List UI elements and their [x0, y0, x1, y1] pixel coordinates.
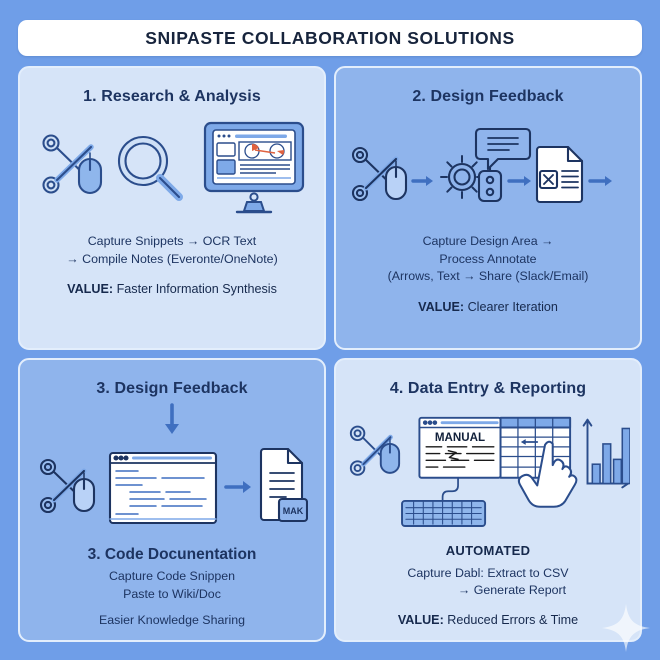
quadrant-title-2: 2. Design Feedback	[412, 88, 563, 106]
quadrant-3-body: Capture Code Snippen Paste to Wiki/Doc	[109, 568, 235, 603]
right-arrow-icon	[226, 481, 251, 493]
quadrant-2-body-line-2: Process Annotate	[388, 251, 589, 269]
scissors-mouse-icon	[353, 148, 406, 200]
code-window-icon	[110, 453, 216, 523]
quadrant-3-body-line-2: Paste to Wiki/Doc	[109, 586, 235, 604]
keyboard-icon	[402, 501, 485, 526]
page-title: SNIPASTE COLLABORATION SOLUTIONS	[145, 28, 515, 49]
right-arrow-icon-1	[413, 176, 433, 186]
quadrant-2-value-label: VALUE:	[418, 300, 464, 314]
quadrant-4-body: Capture Dabl: Extract to CSV → Generate …	[407, 565, 568, 600]
right-arrow-icon-2	[509, 176, 531, 186]
bar-chart-icon	[584, 420, 630, 488]
quadrant-1-value: VALUE: Faster Information Synthesis	[67, 281, 277, 299]
quadrant-2-body-line-1: Capture Design Area →	[388, 233, 589, 251]
quadrant-1-value-text: Faster Information Synthesis	[117, 282, 277, 296]
speech-bubble-icon	[476, 129, 530, 169]
quadrant-3-footer: Easier Knowledge Sharing	[99, 612, 245, 630]
quadrant-4-subheading: AUTOMATED	[446, 543, 531, 558]
quadrant-2-body-line-3: (Arrows, Text → Share (Slack/Email)	[388, 268, 589, 286]
quadrant-1-body: Capture Snippets → OCR Text → Compile No…	[66, 233, 277, 268]
magnifier-icon	[119, 137, 179, 197]
document-badge-text: MAK	[283, 506, 304, 516]
quadrant-card-research-analysis: 1. Research & Analysis	[18, 66, 326, 350]
manual-document-icon	[419, 418, 500, 478]
quadrant-4-value-text: Reduced Errors & Time	[447, 613, 578, 627]
quadrant-2-value: VALUE: Clearer Iteration	[418, 299, 558, 317]
quadrant-4-body-line-2: → Generate Report	[407, 582, 568, 600]
quadrant-4-value-label: VALUE:	[398, 613, 444, 627]
quadrant-3-down-arrow	[30, 403, 314, 437]
quadrant-2-body: Capture Design Area → Process Annotate (…	[388, 233, 589, 286]
scissors-mouse-icon	[44, 136, 102, 194]
quadrant-grid: 1. Research & Analysis	[18, 66, 642, 642]
quadrant-2-illustration	[346, 119, 630, 215]
quadrant-1-illustration	[30, 119, 314, 215]
quadrant-4-value: VALUE: Reduced Errors & Time	[398, 612, 578, 630]
quadrant-3-body-line-1: Capture Code Snippen	[109, 568, 235, 586]
quadrant-1-value-label: VALUE:	[67, 282, 113, 296]
excel-document-icon	[537, 147, 582, 202]
page-title-card: SNIPASTE COLLABORATION SOLUTIONS	[18, 20, 642, 56]
quadrant-card-code-documentation: 3. Design Feedback	[18, 358, 326, 642]
quadrant-card-design-feedback: 2. Design Feedback	[334, 66, 642, 350]
monitor-dashboard-icon	[205, 123, 303, 212]
right-arrow-icon-3	[590, 176, 612, 186]
quadrant-4-body-line-1: Capture Dabl: Extract to CSV	[407, 565, 568, 583]
quadrant-1-body-line-2: → Compile Notes (Everonte/OneNote)	[66, 251, 277, 269]
quadrant-4-illustration: MANUAL	[346, 410, 630, 530]
scissors-mouse-icon	[41, 460, 94, 512]
infographic-page: SNIPASTE COLLABORATION SOLUTIONS 1. Rese…	[0, 0, 660, 660]
quadrant-3-subheading: 3. Code Docunentation	[88, 546, 257, 564]
quadrant-title-3: 3. Design Feedback	[96, 380, 247, 398]
quadrant-title-4: 4. Data Entry & Reporting	[390, 380, 586, 398]
quadrant-1-body-line-1: Capture Snippets → OCR Text	[66, 233, 277, 251]
quadrant-2-value-text: Clearer Iteration	[468, 300, 558, 314]
down-arrow-icon	[159, 403, 185, 437]
manual-document-label: MANUAL	[435, 433, 485, 445]
quadrant-card-data-entry-reporting: 4. Data Entry & Reporting	[334, 358, 642, 642]
scissors-mouse-icon	[351, 427, 399, 475]
quadrant-title-1: 1. Research & Analysis	[83, 88, 261, 106]
quadrant-3-illustration: MAK	[30, 441, 314, 533]
